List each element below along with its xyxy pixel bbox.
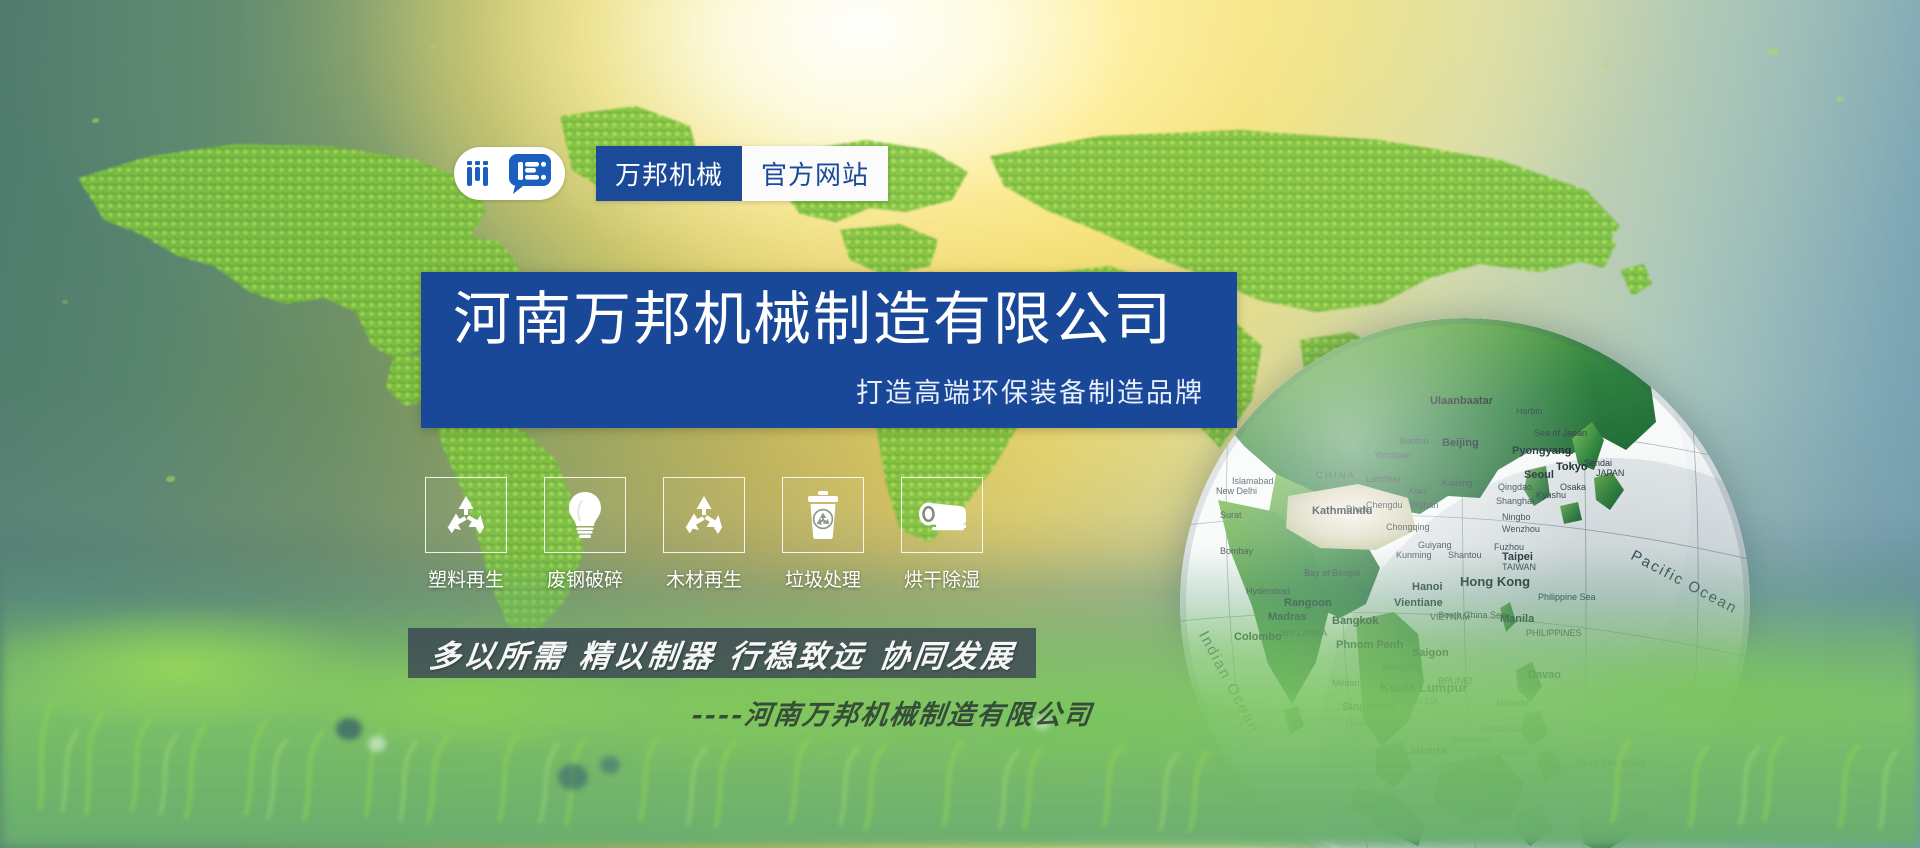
hero-banner: Ulaanbaatar Beijing Baotou Yinchuan Lanz…	[0, 0, 1920, 848]
feature-item-waste-treatment[interactable]: 垃圾处理	[775, 477, 871, 592]
hero-content-layer: 万邦机械 官方网站 河南万邦机械制造有限公司 打造高端环保装备制造品牌	[0, 0, 1920, 848]
recycle-icon	[444, 494, 488, 536]
feature-icon-box	[544, 477, 626, 553]
feature-icon-box	[782, 477, 864, 553]
feature-label: 烘干除湿	[904, 565, 980, 592]
feature-label: 垃圾处理	[785, 565, 861, 592]
brand-tabs: 万邦机械 官方网站	[596, 146, 888, 201]
feature-icon-box	[425, 477, 507, 553]
feature-label: 废钢破碎	[547, 565, 623, 592]
company-subheadline: 打造高端环保装备制造品牌	[856, 371, 1204, 410]
b-speech-bubble-icon	[507, 152, 553, 196]
headline-banner: 河南万邦机械制造有限公司 打造高端环保装备制造品牌	[421, 272, 1237, 428]
rotary-dryer-icon	[916, 498, 968, 532]
w-letter-icon	[466, 159, 502, 189]
feature-icon-box	[901, 477, 983, 553]
brand-bar: 万邦机械 官方网站	[454, 146, 888, 201]
feature-item-drying-dehumidifying[interactable]: 烘干除湿	[894, 477, 990, 592]
feature-item-wood-recycling[interactable]: 木材再生	[656, 477, 752, 592]
feature-icon-box	[663, 477, 745, 553]
lightbulb-icon	[567, 491, 603, 539]
feature-label: 木材再生	[666, 565, 742, 592]
slogan-bar: 多以所需 精以制器 行稳致远 协同发展	[408, 628, 1036, 678]
slogan-attribution: ----河南万邦机械制造有限公司	[690, 693, 1096, 732]
feature-label: 塑料再生	[428, 565, 504, 592]
trash-bin-recycle-icon	[804, 490, 842, 540]
tab-official-website[interactable]: 官方网站	[742, 146, 888, 201]
recycle-icon	[682, 494, 726, 536]
slogan-text: 多以所需 精以制器 行稳致远 协同发展	[427, 631, 1018, 676]
feature-icon-row: 塑料再生 废钢破碎	[418, 477, 990, 592]
feature-item-plastic-recycling[interactable]: 塑料再生	[418, 477, 514, 592]
tab-wanbang-machinery[interactable]: 万邦机械	[596, 146, 742, 201]
company-headline: 河南万邦机械制造有限公司	[453, 288, 1173, 353]
feature-item-scrap-steel-crushing[interactable]: 废钢破碎	[537, 477, 633, 592]
wb-logo[interactable]	[454, 147, 565, 200]
